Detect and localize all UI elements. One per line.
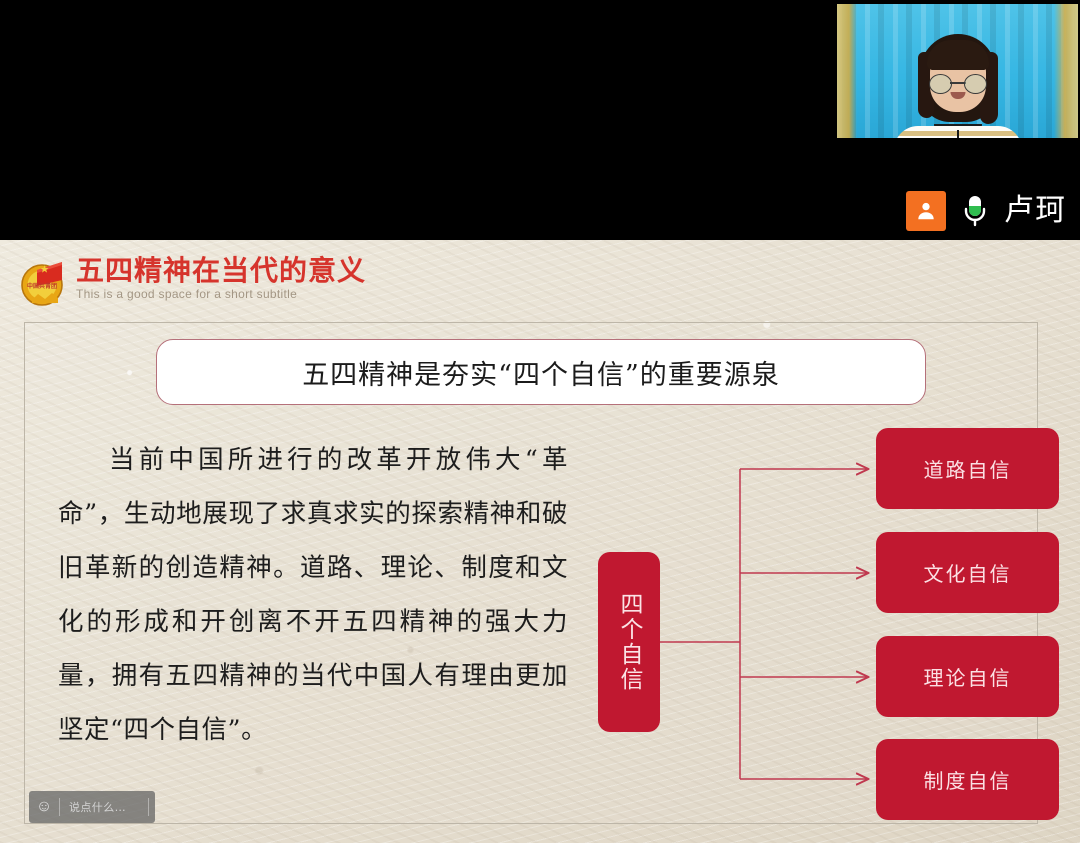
diagram-node-label: 制度自信 bbox=[924, 765, 1012, 794]
glasses-icon bbox=[929, 74, 987, 92]
slide-header-text: 五四精神在当代的意义 This is a good space for a sh… bbox=[76, 252, 366, 301]
person-figure bbox=[898, 34, 1018, 138]
slide-header: 中国共青团 五四精神在当代的意义 This is a good space fo… bbox=[18, 252, 366, 314]
chat-input-bar[interactable]: ☺ 说点什么… bbox=[29, 791, 155, 823]
diagram-hub-node: 四个自信 bbox=[598, 552, 660, 732]
page-subtitle: This is a good space for a short subtitl… bbox=[76, 287, 366, 301]
chat-send-divider bbox=[148, 798, 149, 816]
page-title: 五四精神在当代的意义 bbox=[76, 256, 366, 286]
headline-text: 五四精神是夯实“四个自信”的重要源泉 bbox=[302, 353, 780, 392]
speaker-name: 卢珂 bbox=[1004, 196, 1066, 226]
lens-left bbox=[929, 74, 952, 94]
slide-content-panel: 五四精神是夯实“四个自信”的重要源泉 当前中国所进行的改革开放伟大“革命”，生动… bbox=[24, 322, 1038, 824]
diagram-node-label: 道路自信 bbox=[924, 454, 1012, 483]
diagram-node-system-confidence: 制度自信 bbox=[876, 739, 1059, 820]
communist-youth-league-emblem-icon: 中国共青团 bbox=[18, 254, 72, 308]
diagram-node-culture-confidence: 文化自信 bbox=[876, 532, 1059, 613]
microphone-icon[interactable] bbox=[958, 191, 992, 231]
webcam-feed bbox=[837, 4, 1078, 138]
chat-input-placeholder[interactable]: 说点什么… bbox=[60, 799, 148, 815]
diagram-hub-label: 四个自信 bbox=[611, 592, 647, 692]
active-speaker-bar: 卢珂 bbox=[906, 190, 1066, 232]
earphone-cable bbox=[957, 130, 959, 138]
diagram-node-theory-confidence: 理论自信 bbox=[876, 636, 1059, 717]
lens-right bbox=[964, 74, 987, 94]
headline-pill: 五四精神是夯实“四个自信”的重要源泉 bbox=[156, 339, 926, 405]
diagram-node-label: 理论自信 bbox=[924, 662, 1012, 691]
participant-icon[interactable] bbox=[906, 191, 946, 231]
body-paragraph: 当前中国所进行的改革开放伟大“革命”，生动地展现了求真求实的探索精神和破旧革新的… bbox=[58, 433, 568, 757]
svg-text:中国共青团: 中国共青团 bbox=[27, 282, 57, 290]
four-confidences-diagram: 四个自信 道路自信 文化自信 理论自信 制度自信 bbox=[565, 419, 1025, 809]
hair-fringe bbox=[927, 40, 989, 70]
diagram-node-road-confidence: 道路自信 bbox=[876, 428, 1059, 509]
curtain-right-edge bbox=[1054, 4, 1078, 138]
emoji-smiley-icon[interactable]: ☺ bbox=[29, 791, 59, 823]
video-conference-strip: 卢珂 bbox=[0, 0, 1080, 240]
diagram-node-label: 文化自信 bbox=[924, 558, 1012, 587]
participant-video-tile[interactable] bbox=[835, 0, 1080, 142]
curtain-left-edge bbox=[837, 4, 857, 138]
presentation-slide: 中国共青团 五四精神在当代的意义 This is a good space fo… bbox=[0, 240, 1080, 843]
